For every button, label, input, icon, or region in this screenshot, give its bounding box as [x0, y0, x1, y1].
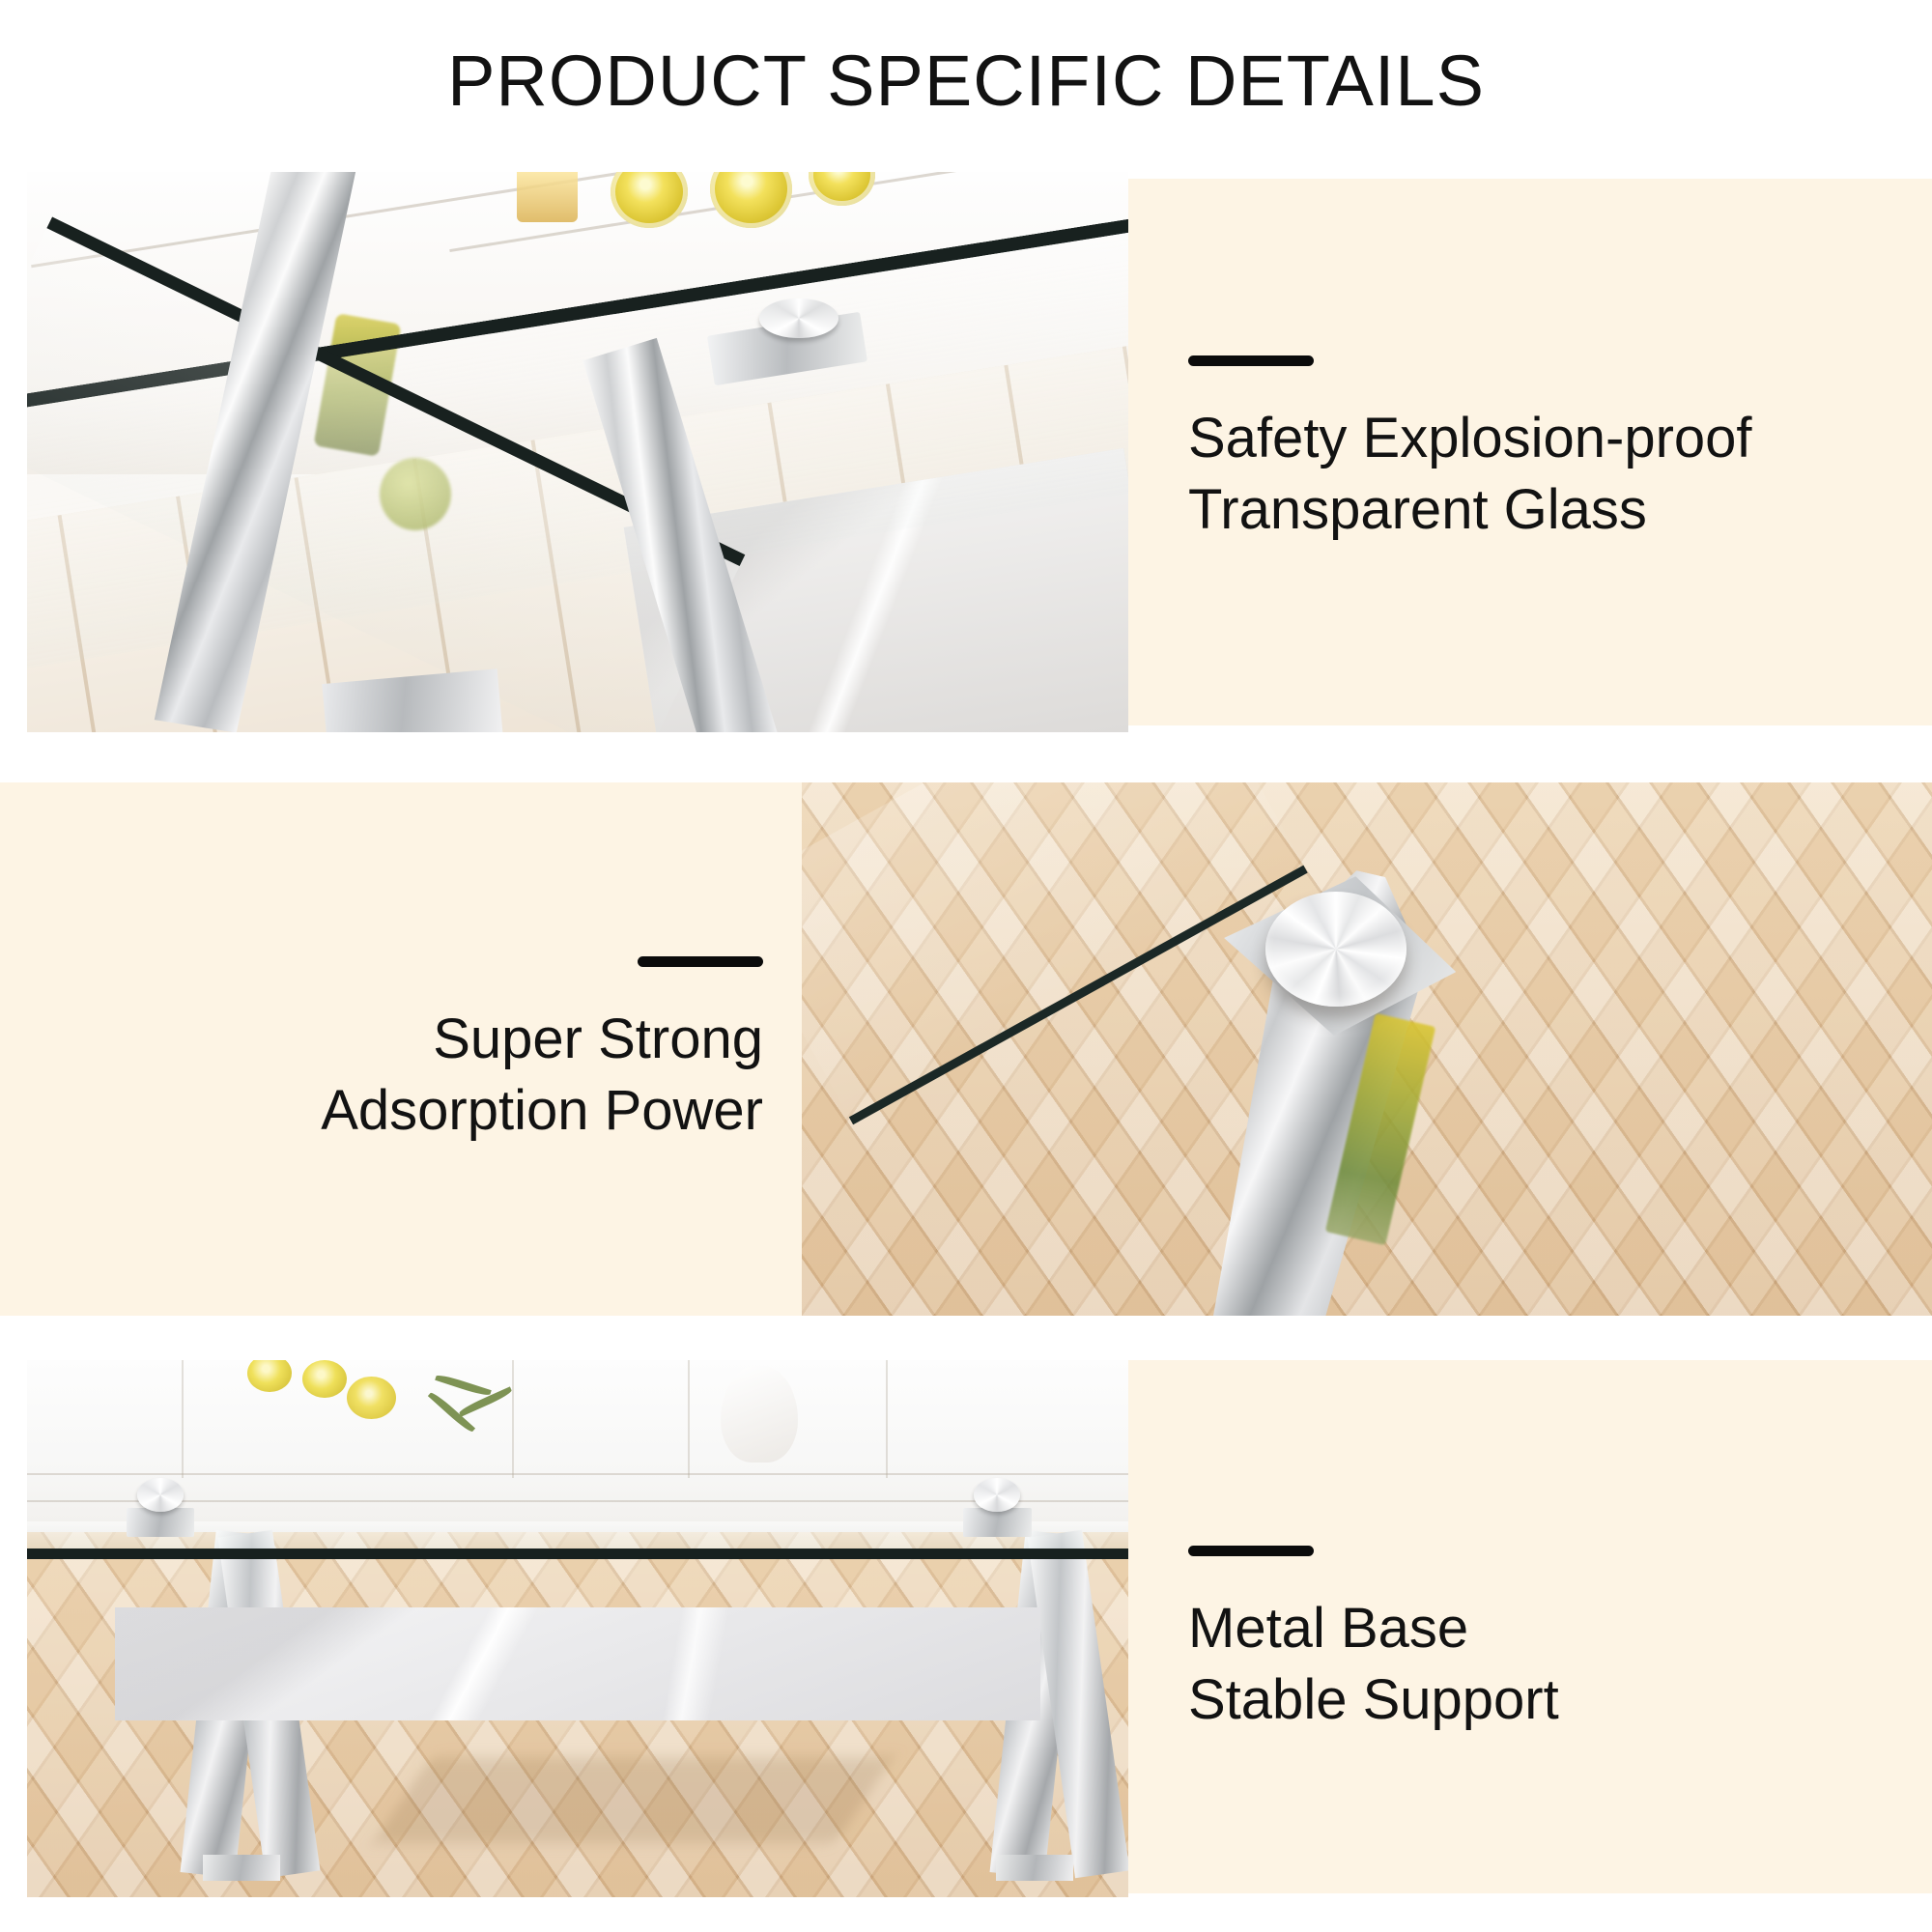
photo-artwork	[27, 172, 1128, 732]
white-vase	[721, 1366, 798, 1463]
page-title: PRODUCT SPECIFIC DETAILS	[0, 43, 1932, 120]
feature-row-2: Super Strong Adsorption Power	[0, 782, 1932, 1316]
lemon-bottle	[302, 1360, 347, 1398]
photo-artwork	[802, 782, 1932, 1316]
dash-rule-icon	[1188, 1546, 1314, 1556]
floor-shadow	[373, 1757, 894, 1843]
cabinet-seam	[512, 1360, 514, 1478]
lemon-slice	[347, 1377, 396, 1419]
glass-tabletop-corner-photo	[27, 172, 1128, 732]
feature-1-line-2: Transparent Glass	[1188, 474, 1752, 546]
dash-rule-icon	[638, 956, 763, 967]
cabinet-seam	[27, 1500, 1128, 1502]
cabinet-seam	[886, 1360, 888, 1478]
feature-row-1: Safety Explosion-proof Transparent Glass	[0, 172, 1932, 732]
feature-3-caption: Metal Base Stable Support	[1188, 1546, 1559, 1736]
amber-tumbler	[517, 172, 578, 222]
feature-2-line-1: Super Strong	[0, 1004, 763, 1075]
feature-1-line-1: Safety Explosion-proof	[1188, 403, 1752, 474]
cabinet-seam	[688, 1360, 690, 1478]
chrome-mount-plate-right	[963, 1508, 1032, 1538]
feature-3-line-1: Metal Base	[1188, 1593, 1559, 1664]
suction-disc-left-icon	[137, 1478, 184, 1511]
feature-2-caption: Super Strong Adsorption Power	[0, 956, 763, 1147]
metal-base-photo	[27, 1360, 1128, 1897]
chrome-foot-left	[203, 1855, 280, 1882]
chrome-mount-plate-left	[127, 1508, 195, 1538]
suction-disc-detail-photo	[802, 782, 1932, 1316]
suction-disc-right-icon	[974, 1478, 1020, 1511]
chrome-foot-right	[996, 1855, 1073, 1882]
cabinet-seam	[27, 1473, 1128, 1475]
feature-2-line-2: Adsorption Power	[0, 1075, 763, 1147]
suction-disc-icon	[1265, 892, 1406, 1007]
photo-artwork	[27, 1360, 1128, 1897]
cabinet-seam	[182, 1360, 184, 1478]
feature-3-line-2: Stable Support	[1188, 1664, 1559, 1736]
suction-disc-icon	[759, 298, 838, 339]
feature-row-3: Metal Base Stable Support	[0, 1360, 1932, 1897]
feature-1-caption: Safety Explosion-proof Transparent Glass	[1188, 355, 1752, 546]
marble-stretcher-bar	[115, 1607, 1040, 1720]
dash-rule-icon	[1188, 355, 1314, 366]
